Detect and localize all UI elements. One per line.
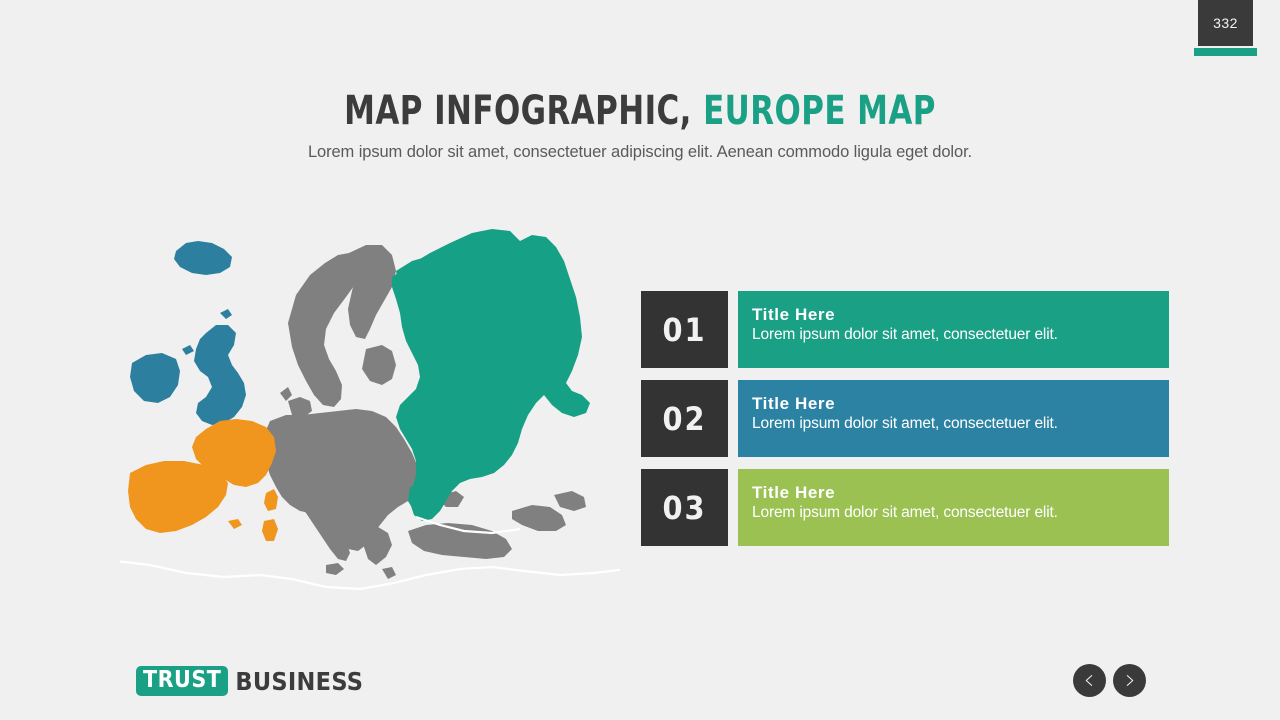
card-number-badge: 01: [641, 291, 728, 368]
brand-logo: TRUST BUSINESS: [136, 666, 363, 696]
map-region-uk-ireland-iceland[interactable]: [130, 241, 246, 425]
card-number-label: 02: [662, 400, 706, 438]
page-title: MAP INFOGRAPHIC, EUROPE MAP: [90, 88, 1191, 134]
map-region-france-iberia[interactable]: [128, 419, 278, 541]
card-number-badge: 03: [641, 469, 728, 546]
page-number-label: 332: [1213, 15, 1238, 31]
chevron-right-icon: [1123, 674, 1136, 687]
next-slide-button[interactable]: [1113, 664, 1146, 697]
card-body: Title Here Lorem ipsum dolor sit amet, c…: [738, 291, 1169, 368]
card-description: Lorem ipsum dolor sit amet, consectetuer…: [752, 415, 1169, 433]
card-body: Title Here Lorem ipsum dolor sit amet, c…: [738, 469, 1169, 546]
card-number-badge: 02: [641, 380, 728, 457]
card-description: Lorem ipsum dolor sit amet, consectetuer…: [752, 504, 1169, 522]
slide-header: MAP INFOGRAPHIC, EUROPE MAP Lorem ipsum …: [0, 88, 1280, 162]
previous-slide-button[interactable]: [1073, 664, 1106, 697]
europe-map-container[interactable]: [120, 225, 620, 595]
info-card-03[interactable]: 03 Title Here Lorem ipsum dolor sit amet…: [641, 469, 1169, 546]
card-title: Title Here: [752, 482, 1169, 503]
page-number-underline: [1194, 48, 1257, 56]
map-region-russia-eastern-europe[interactable]: [392, 229, 590, 521]
page-title-accent: EUROPE MAP: [703, 88, 936, 134]
info-card-02[interactable]: 02 Title Here Lorem ipsum dolor sit amet…: [641, 380, 1169, 457]
card-title: Title Here: [752, 393, 1169, 414]
page-number-badge: 332: [1198, 0, 1253, 46]
info-card-01[interactable]: 01 Title Here Lorem ipsum dolor sit amet…: [641, 291, 1169, 368]
card-number-label: 03: [662, 489, 706, 527]
europe-map-svg: [120, 225, 620, 595]
card-body: Title Here Lorem ipsum dolor sit amet, c…: [738, 380, 1169, 457]
chevron-left-icon: [1083, 674, 1096, 687]
page-subtitle: Lorem ipsum dolor sit amet, consectetuer…: [0, 143, 1280, 162]
card-description: Lorem ipsum dolor sit amet, consectetuer…: [752, 326, 1169, 344]
card-title: Title Here: [752, 304, 1169, 325]
logo-text: BUSINESS: [235, 669, 363, 694]
logo-mark: TRUST: [136, 666, 228, 696]
card-number-label: 01: [662, 311, 706, 349]
info-cards-list: 01 Title Here Lorem ipsum dolor sit amet…: [641, 291, 1169, 558]
page-title-main: MAP INFOGRAPHIC,: [344, 88, 692, 134]
